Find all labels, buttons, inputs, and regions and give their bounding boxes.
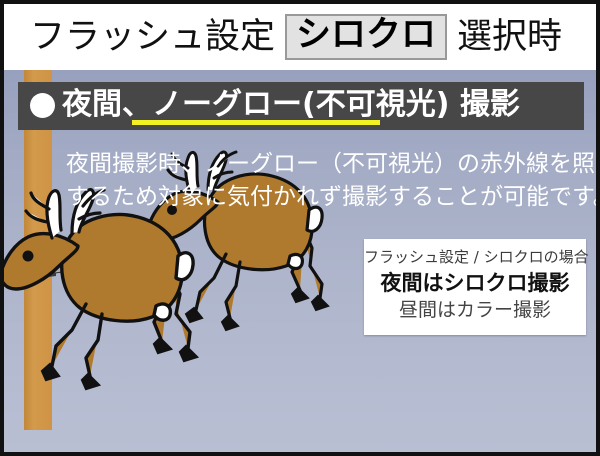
filled-circle-icon xyxy=(30,93,55,118)
yellow-underline xyxy=(132,120,380,125)
description-paragraph: 夜間撮影時、ノーグロー（不可視光）の赤外線を照射 するため対象に気付かれず撮影す… xyxy=(66,148,586,215)
header-prefix-label: フラッシュ設定 xyxy=(30,20,275,55)
header-mode-chip[interactable]: シロクロ xyxy=(285,14,447,60)
description-line-2: するため対象に気付かれず撮影することが可能です。 xyxy=(66,181,586,214)
info-box-day-mode: 昼間はカラー撮影 xyxy=(364,298,586,323)
section-title-label: 夜間、ノーグロー(不可視光) 撮影 xyxy=(62,90,520,120)
info-box-caption: フラッシュ設定 / シロクロの場合 xyxy=(364,248,586,266)
deer-eye-front xyxy=(23,251,34,262)
header-suffix-label: 選択時 xyxy=(457,20,562,55)
info-box-night-mode: 夜間はシロクロ撮影 xyxy=(364,269,586,297)
header-bar: フラッシュ設定 シロクロ 選択時 xyxy=(4,4,596,70)
description-line-1: 夜間撮影時、ノーグロー（不可視光）の赤外線を照射 xyxy=(66,148,586,181)
slide-frame: フラッシュ設定 シロクロ 選択時 xyxy=(0,0,600,456)
content-panel: 夜間、ノーグロー(不可視光) 撮影 夜間撮影時、ノーグロー（不可視光）の赤外線を… xyxy=(4,70,596,452)
info-callout-box: フラッシュ設定 / シロクロの場合 夜間はシロクロ撮影 昼間はカラー撮影 xyxy=(364,239,586,335)
